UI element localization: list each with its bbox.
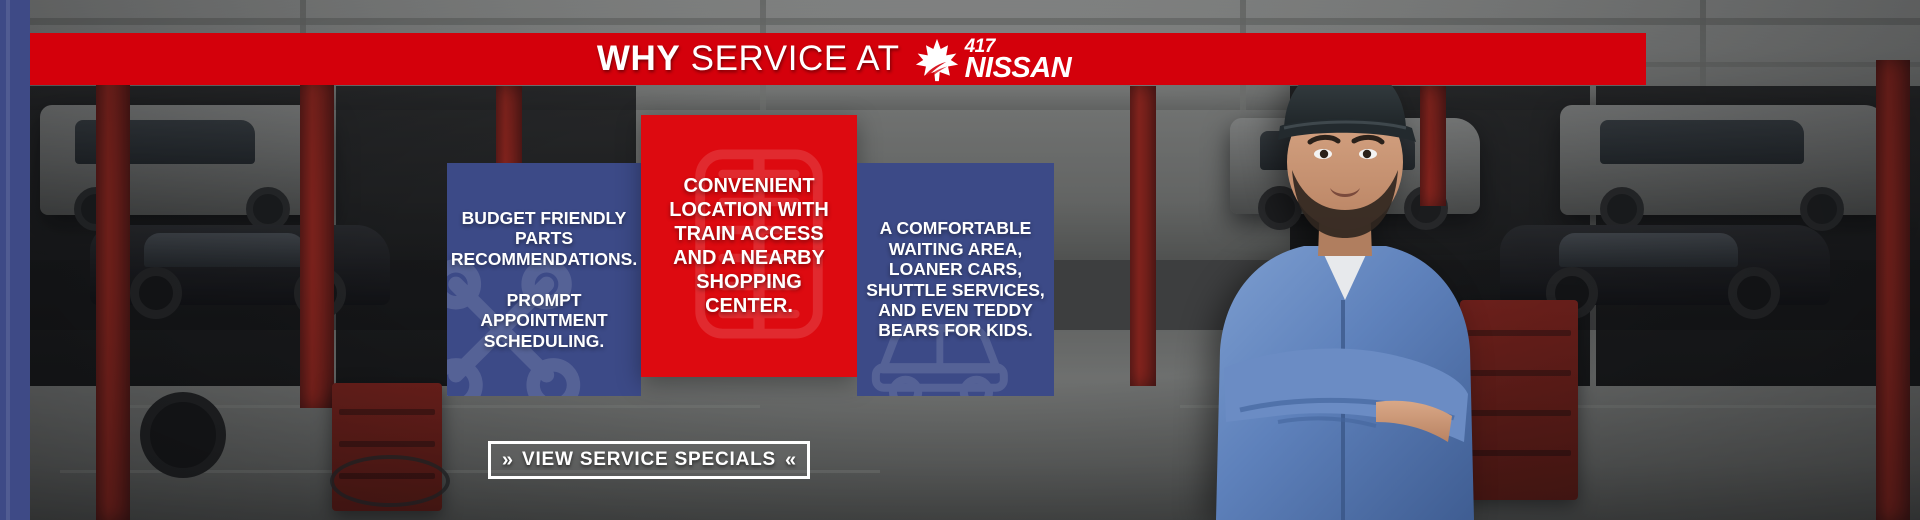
feature-panel-budget-parts: BUDGET FRIENDLY PARTS RECOMMENDATIONS.PR… — [447, 163, 641, 396]
page-title: WHY SERVICE AT — [597, 39, 900, 79]
dealer-logo: 417 NISSAN — [914, 37, 1072, 83]
logo-wordmark: 417 NISSAN — [965, 39, 1072, 80]
feature-text: BUDGET FRIENDLY PARTS RECOMMENDATIONS.PR… — [451, 208, 637, 351]
logo-line-nissan: NISSAN — [965, 56, 1072, 81]
headline-bar: WHY SERVICE AT 417 NISSAN — [22, 33, 1646, 85]
cta-label: VIEW SERVICE SPECIALS — [522, 449, 776, 471]
service-promo-banner: WHY SERVICE AT 417 NISSAN — [0, 0, 1920, 520]
chevron-left-double-icon: « — [785, 450, 796, 470]
maple-leaf-icon — [914, 37, 960, 83]
headline-light: SERVICE AT — [691, 39, 900, 78]
rail-highlight — [6, 0, 10, 520]
headline-strong: WHY — [597, 39, 680, 78]
chevron-right-double-icon: » — [502, 450, 513, 470]
feature-panel-group: BUDGET FRIENDLY PARTS RECOMMENDATIONS.PR… — [447, 163, 1054, 396]
view-service-specials-button[interactable]: » VIEW SERVICE SPECIALS « — [488, 441, 810, 479]
feature-panel-comfort-amenities: A COMFORTABLE WAITING AREA, LOANER CARS,… — [857, 163, 1054, 396]
feature-panel-convenient-location: CONVENIENT LOCATION WITH TRAIN ACCESS AN… — [641, 115, 857, 377]
feature-text: CONVENIENT LOCATION WITH TRAIN ACCESS AN… — [651, 174, 847, 318]
feature-text: A COMFORTABLE WAITING AREA, LOANER CARS,… — [865, 218, 1046, 341]
service-technician-photo — [1180, 50, 1510, 520]
left-accent-rail — [0, 0, 30, 520]
